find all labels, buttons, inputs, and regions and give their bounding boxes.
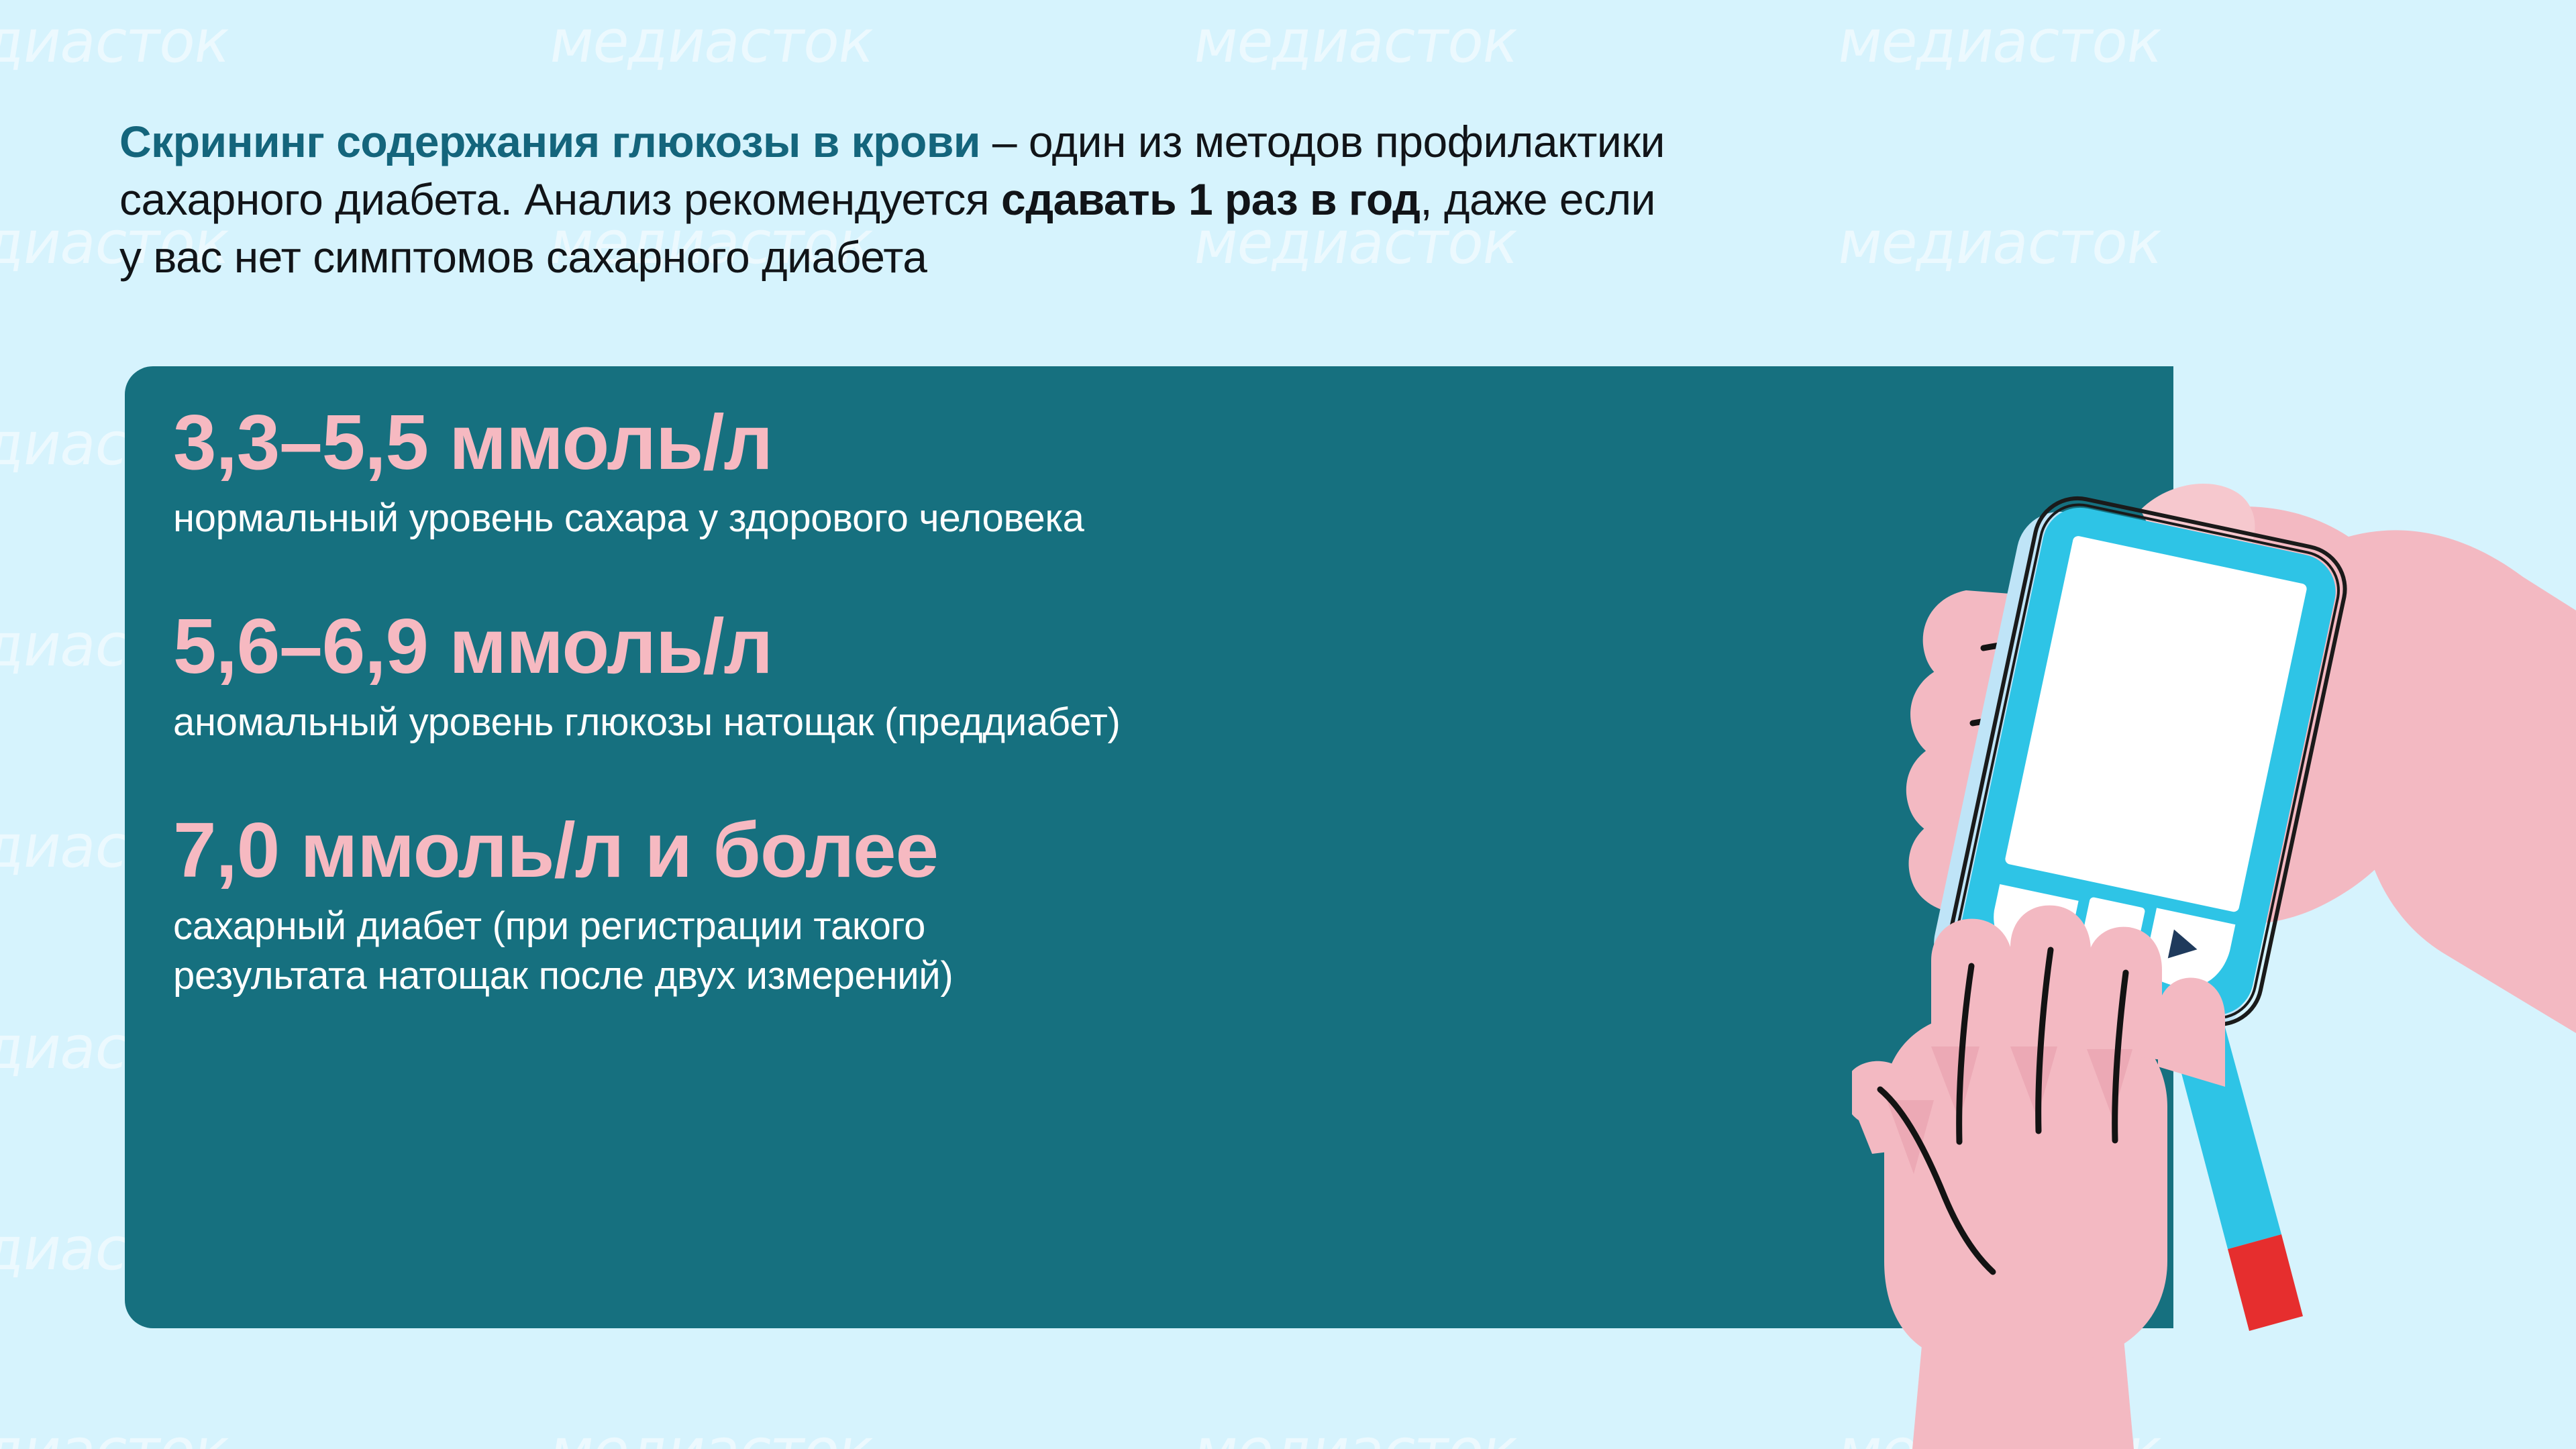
header-line-1-rest: – один из методов профилактики [980, 117, 1665, 166]
header-line-1: Скрининг содержания глюкозы в крови – од… [119, 113, 2414, 170]
header-emphasis-screening: Скрининг содержания глюкозы в крови [119, 117, 980, 166]
watermark-text: медиасток [0, 1415, 234, 1449]
stat-description-diabetes-line-2: результата натощак после двух измерений) [173, 951, 1985, 1001]
stat-value-normal: 3,3–5,5 ммоль/л [173, 400, 1985, 484]
watermark-text: медиасток [1833, 1415, 2167, 1449]
stat-block-prediabetes: 5,6–6,9 ммоль/л аномальный уровень глюко… [173, 604, 1985, 747]
header-line-2: сахарного диабета. Анализ рекомендуется … [119, 170, 2414, 228]
header-line-2-start: сахарного диабета. Анализ рекомендуется [119, 174, 1001, 224]
watermark-text: медиасток [1189, 7, 1523, 76]
watermark-text: медиасток [1833, 7, 2167, 76]
header-line-3: у вас нет симптомов сахарного диабета [119, 228, 2414, 286]
stat-description-diabetes-line-1: сахарный диабет (при регистрации такого [173, 902, 1985, 951]
header-line-2-end: , даже если [1420, 174, 1655, 224]
header-emphasis-frequency: сдавать 1 раз в год [1001, 174, 1420, 224]
stat-value-diabetes: 7,0 ммоль/л и более [173, 808, 1985, 892]
stat-description-normal: нормальный уровень сахара у здорового че… [173, 494, 1985, 543]
watermark-text: медиасток [545, 7, 878, 76]
stat-block-normal: 3,3–5,5 ммоль/л нормальный уровень сахар… [173, 400, 1985, 543]
stat-description-prediabetes: аномальный уровень глюкозы натощак (пред… [173, 698, 1985, 747]
watermark-text: медиасток [0, 7, 234, 76]
stat-value-prediabetes: 5,6–6,9 ммоль/л [173, 604, 1985, 688]
glucose-levels-content: 3,3–5,5 ммоль/л нормальный уровень сахар… [173, 400, 1985, 1001]
header-text-block: Скрининг содержания глюкозы в крови – од… [119, 113, 2414, 286]
watermark-text: медиасток [545, 1415, 878, 1449]
stat-block-diabetes: 7,0 ммоль/л и более сахарный диабет (при… [173, 808, 1985, 1001]
watermark-text: медиасток [1189, 1415, 1523, 1449]
